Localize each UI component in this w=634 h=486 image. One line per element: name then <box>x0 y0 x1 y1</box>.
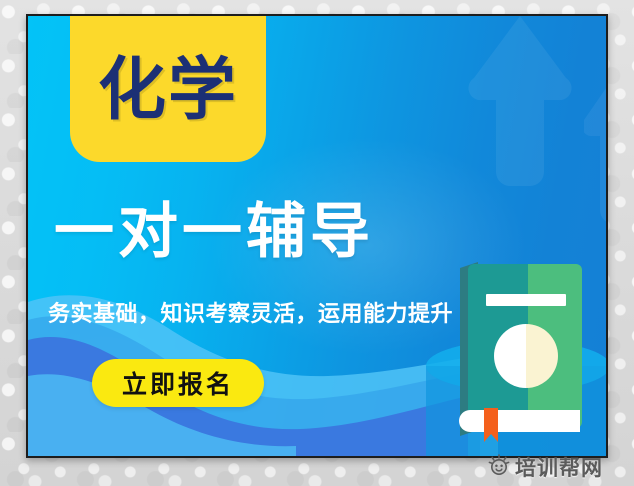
book-icon <box>456 258 590 444</box>
sun-face-icon <box>488 454 510 481</box>
arrow-up-icon <box>466 16 574 202</box>
subject-badge: 化学 <box>70 16 266 162</box>
watermark-label: 培训帮网 <box>515 452 603 482</box>
page-background: 化学 一对一辅导 务实基础，知识考察灵活，运用能力提升 立即报名 <box>0 0 634 486</box>
banner-subtitle: 务实基础，知识考察灵活，运用能力提升 <box>48 304 453 326</box>
enroll-now-button[interactable]: 立即报名 <box>92 359 264 407</box>
arrow-up-icon <box>584 60 606 236</box>
page-title: 一对一辅导 <box>54 202 374 262</box>
subject-badge-label: 化学 <box>98 57 238 125</box>
promo-banner: 化学 一对一辅导 务实基础，知识考察灵活，运用能力提升 立即报名 <box>28 16 606 456</box>
promo-banner-frame: 化学 一对一辅导 务实基础，知识考察灵活，运用能力提升 立即报名 <box>26 14 608 458</box>
watermark: 培训帮网 <box>488 452 603 482</box>
